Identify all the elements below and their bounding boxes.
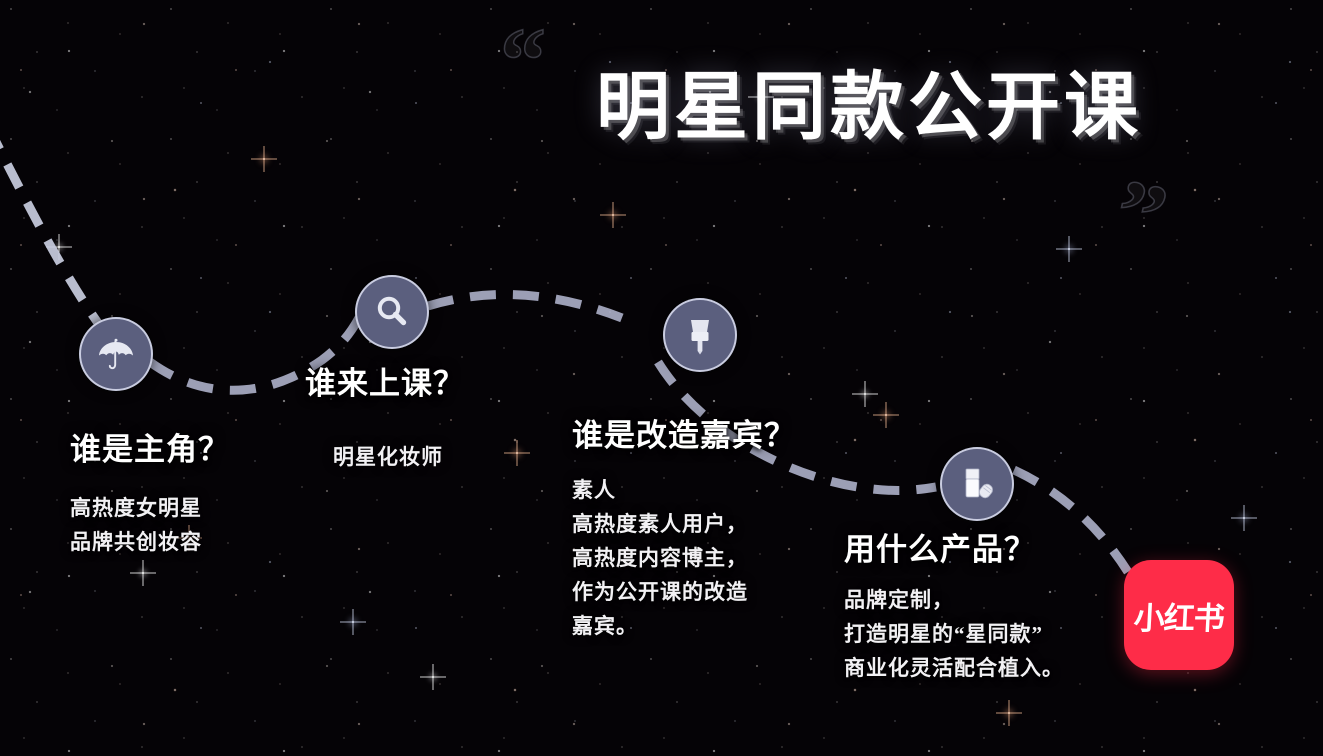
cosmetic-bottle-icon — [957, 464, 997, 504]
xiaohongshu-logo-text: 小红书 — [1133, 593, 1225, 638]
makeup-brush-icon — [682, 315, 718, 355]
xiaohongshu-logo[interactable]: 小红书 — [1124, 560, 1234, 670]
umbrella-icon — [96, 334, 136, 374]
step-2-heading: 谁来上课？ — [305, 358, 465, 403]
step-4-body: 品牌定制， 打造明星的“星同款” 商业化灵活配合植入。 — [844, 583, 1064, 685]
step-node-1[interactable] — [79, 317, 153, 391]
step-1-heading: 谁是主角？ — [70, 424, 230, 469]
step-text-1: 谁是主角？ 高热度女明星 品牌共创妆容 — [70, 424, 230, 559]
step-1-body: 高热度女明星 品牌共创妆容 — [70, 491, 230, 559]
step-2-body: 明星化妆师 — [333, 441, 465, 471]
step-text-2: 谁来上课？ 明星化妆师 — [305, 358, 465, 471]
step-3-body: 素人 高热度素人用户， 高热度内容博主， 作为公开课的改造 嘉宾。 — [572, 473, 796, 643]
step-text-3: 谁是改造嘉宾？ 素人 高热度素人用户， 高热度内容博主， 作为公开课的改造 嘉宾… — [572, 410, 796, 643]
step-node-4[interactable] — [940, 447, 1014, 521]
step-node-3[interactable] — [663, 298, 737, 372]
decorative-open-quote-icon: “ — [500, 14, 544, 106]
page-title: 明星同款公开课 — [596, 68, 1142, 146]
step-text-4: 用什么产品？ 品牌定制， 打造明星的“星同款” 商业化灵活配合植入。 — [844, 524, 1064, 685]
step-node-2[interactable] — [355, 275, 429, 349]
poster-canvas: “ ” 明星同款公开课 — [0, 0, 1323, 756]
step-4-heading: 用什么产品？ — [844, 524, 1064, 569]
magnifier-icon — [373, 293, 411, 331]
step-3-heading: 谁是改造嘉宾？ — [572, 410, 796, 455]
